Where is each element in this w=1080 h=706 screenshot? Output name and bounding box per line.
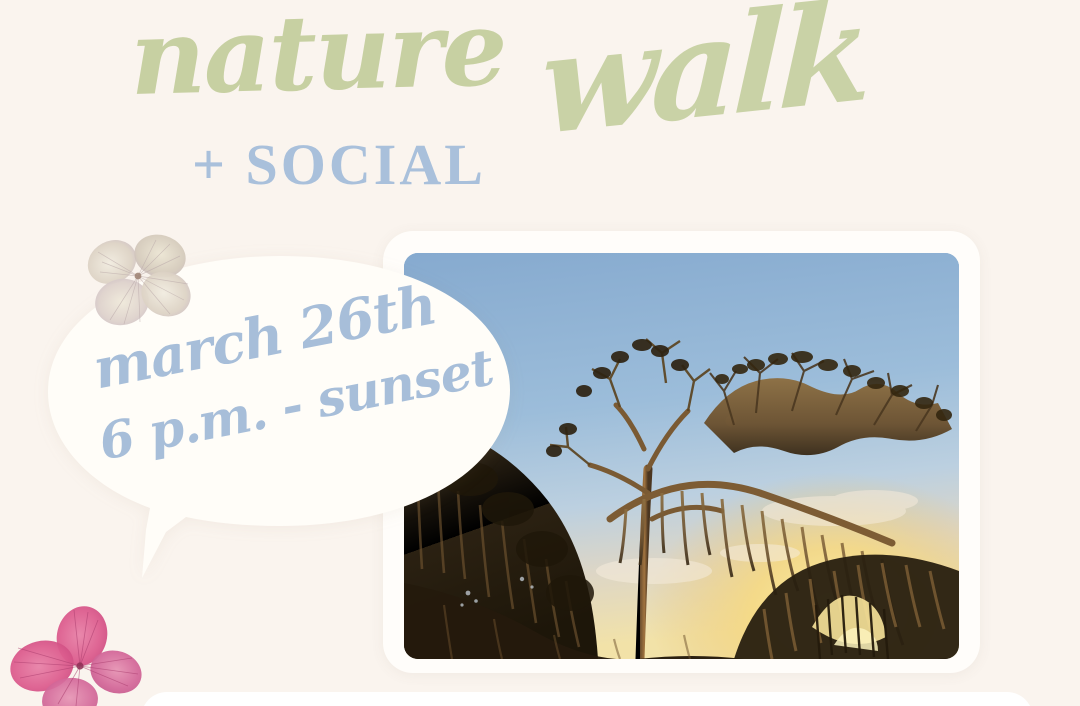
headline-subtitle-social: + SOCIAL <box>192 136 486 194</box>
headline-word-walk: walk <box>539 0 869 155</box>
pressed-flower-cream-icon <box>78 228 202 332</box>
headline-word-nature: nature <box>129 0 507 110</box>
bottom-white-panel <box>141 692 1033 706</box>
poster-canvas: nature walk + SOCIAL <box>0 0 1080 706</box>
pressed-flower-pink-icon <box>8 604 144 706</box>
